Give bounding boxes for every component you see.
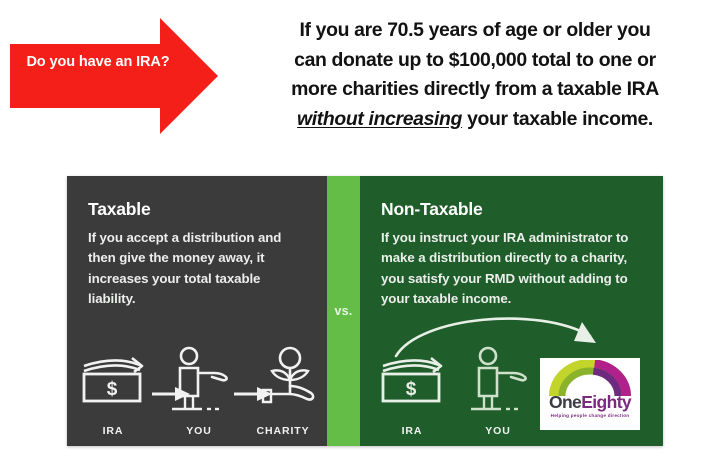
svg-text:$: $ [107,379,118,400]
header-banner: Do you have an IRA? If you are 70.5 year… [0,0,720,158]
headline-line-3: more charities directly from a taxable I… [236,75,714,105]
logo-word-one: One [549,392,581,412]
nontaxable-icon-flow: $ IRA YOU [360,346,663,438]
taxable-heading: Taxable [88,199,150,220]
taxable-ira-label: IRA [71,425,155,437]
nontaxable-ira-icon-cell: $ IRA [370,352,454,438]
headline-line-4: without increasing your taxable income. [236,105,714,135]
taxable-ira-icon-cell: $ IRA [71,352,155,438]
vs-divider: vs. [327,176,360,446]
money-icon: $ [377,352,447,406]
oneeighty-logo: OneEighty Helping people change directio… [540,358,640,430]
taxable-charity-icon-cell: CHARITY [239,346,327,438]
taxable-charity-label: CHARITY [239,425,327,437]
logo-tagline: Helping people change direction [540,413,640,418]
taxable-you-label: YOU [157,425,241,437]
headline-line-4-rest: your taxable income. [462,108,653,130]
logo-word-eighty: Eighty [581,392,631,412]
arrow-callout-label: Do you have an IRA? [18,52,178,73]
money-icon: $ [78,352,148,406]
headline-emphasis: without increasing [297,108,462,130]
headline-text: If you are 70.5 years of age or older yo… [236,16,714,135]
comparison-panel: Taxable If you accept a distribution and… [67,176,663,446]
taxable-body: If you accept a distribution and then gi… [88,228,310,309]
arrow-callout: Do you have an IRA? [8,14,220,138]
headline-line-2: can donate up to $100,000 total to one o… [236,46,714,76]
person-icon [162,346,236,416]
headline-line-1: If you are 70.5 years of age or older yo… [236,16,714,46]
taxable-icon-flow: $ IRA [67,346,327,438]
nontaxable-heading: Non-Taxable [381,199,483,220]
nontaxable-you-icon-cell: YOU [456,346,540,438]
vs-label: vs. [335,304,353,318]
nontaxable-you-label: YOU [456,425,540,437]
person-icon [461,346,535,416]
nontaxable-ira-label: IRA [370,425,454,437]
charity-hand-plant-icon [245,346,321,416]
svg-text:$: $ [406,379,417,400]
taxable-you-icon-cell: YOU [157,346,241,438]
red-arrow-shape [8,14,220,138]
logo-wordmark: OneEighty [540,392,640,413]
nontaxable-column: Non-Taxable If you instruct your IRA adm… [360,176,663,446]
nontaxable-body: If you instruct your IRA administrator t… [381,228,643,309]
taxable-column: Taxable If you accept a distribution and… [67,176,327,446]
